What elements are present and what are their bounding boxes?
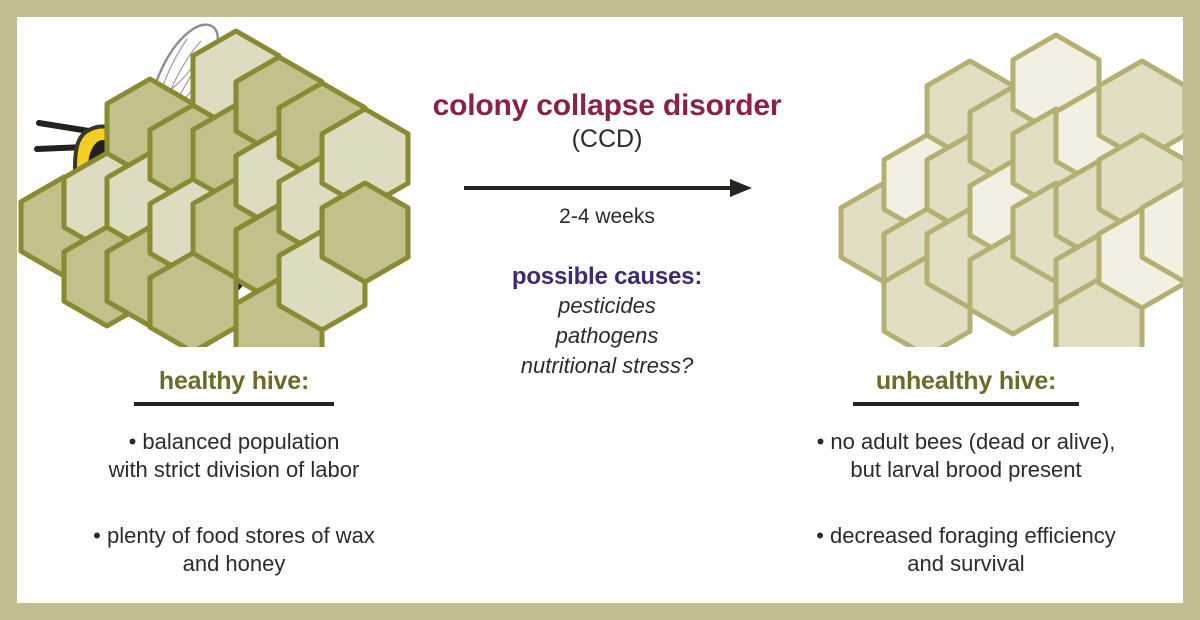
cause-item-pathogens: pathogens	[417, 321, 797, 351]
right-arrow-icon	[462, 175, 752, 201]
unhealthy-hive-bullet-1-line-1: • no adult bees (dead or alive),	[817, 429, 1116, 454]
unhealthy-hive-bullet-1: • no adult bees (dead or alive), but lar…	[751, 406, 1181, 484]
healthy-hive-bullet-2: • plenty of food stores of wax and honey	[19, 484, 449, 578]
unhealthy-hive-bullet-2: • decreased foraging efficiency and surv…	[751, 484, 1181, 578]
healthy-hive-heading: healthy hive:	[19, 367, 449, 396]
healthy-hive-block: healthy hive: • balanced population with…	[19, 367, 449, 579]
center-column: colony collapse disorder (CCD) 2-4 weeks…	[417, 17, 797, 380]
right-honeycomb-illustration	[837, 17, 1183, 347]
unhealthy-hive-bullet-2-line-2: and survival	[907, 551, 1024, 576]
cause-item-nutritional-stress: nutritional stress?	[417, 351, 797, 381]
healthy-hive-bullet-2-line-2: and honey	[183, 551, 286, 576]
unhealthy-hive-heading: unhealthy hive:	[751, 367, 1181, 396]
page-title: colony collapse disorder	[417, 17, 797, 123]
infographic-inner-panel: colony collapse disorder (CCD) 2-4 weeks…	[17, 17, 1183, 603]
unhealthy-hive-bullet-2-line-1: • decreased foraging efficiency	[816, 523, 1116, 548]
cause-item-pesticides: pesticides	[417, 291, 797, 321]
unhealthy-hive-bullet-1-line-2: but larval brood present	[850, 457, 1081, 482]
unhealthy-hive-block: unhealthy hive: • no adult bees (dead or…	[751, 367, 1181, 579]
ccd-abbreviation: (CCD)	[417, 123, 797, 154]
left-honeycomb-illustration	[17, 17, 417, 347]
infographic-canvas: colony collapse disorder (CCD) 2-4 weeks…	[0, 0, 1200, 620]
healthy-hive-bullet-1-line-2: with strict division of labor	[109, 457, 360, 482]
healthy-hive-bullet-1: • balanced population with strict divisi…	[19, 406, 449, 484]
healthy-hive-bullet-1-line-1: • balanced population	[129, 429, 340, 454]
possible-causes-heading: possible causes:	[417, 229, 797, 291]
healthy-hive-bullet-2-line-1: • plenty of food stores of wax	[93, 523, 375, 548]
transition-arrow	[462, 153, 752, 201]
